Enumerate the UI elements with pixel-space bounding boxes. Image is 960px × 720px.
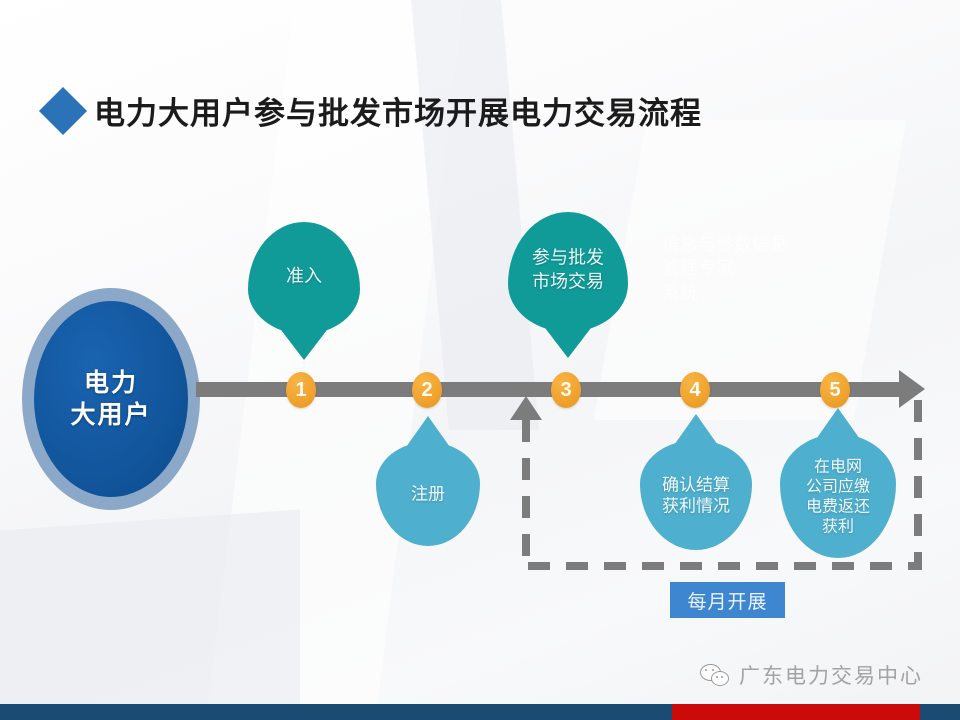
- monthly-cycle-tag[interactable]: 每月开展: [670, 582, 785, 618]
- timeline-badge-3[interactable]: 3: [551, 372, 581, 408]
- feedback-loop-arrow-head: [510, 396, 542, 420]
- actor-label-line2: 大用户: [70, 399, 151, 431]
- step-label-2: 注册: [378, 484, 478, 505]
- timeline-badge-4[interactable]: 4: [680, 372, 710, 408]
- actor-label-line1: 电力: [84, 367, 138, 399]
- step-label-5: 在电网 公司应缴 电费返还 获利: [782, 457, 894, 538]
- slide-title-row: 电力大用户参与批发市场开展电力交易流程: [46, 88, 702, 133]
- actor-ellipse: 电力 大用户: [22, 288, 200, 510]
- timeline-badge-2[interactable]: 2: [412, 372, 442, 408]
- footer-branding: 广东电力交易中心: [700, 660, 923, 690]
- page-title: 电力大用户参与批发市场开展电力交易流程: [94, 88, 702, 133]
- background-watermark-text: 信息与参数信息 管理专家 系统: [662, 232, 852, 305]
- footer-label: 广东电力交易中心: [739, 660, 923, 690]
- feedback-loop-bottom: [528, 562, 922, 570]
- feedback-loop-left: [522, 420, 530, 566]
- timeline-badge-1[interactable]: 1: [286, 372, 316, 408]
- diamond-bullet-icon: [39, 86, 87, 134]
- background-facet-4: [0, 510, 300, 720]
- timeline-badge-5[interactable]: 5: [820, 372, 850, 408]
- slide-canvas: 电力大用户参与批发市场开展电力交易流程 信息与参数信息 管理专家 系统 电力 大…: [0, 0, 960, 720]
- bottom-bar-accent: [672, 704, 920, 720]
- actor-ellipse-inner: 电力 大用户: [34, 301, 188, 497]
- wechat-icon: [700, 663, 730, 687]
- step-label-1: 准入: [248, 265, 360, 289]
- step-label-4: 确认结算 获利情况: [642, 474, 750, 517]
- feedback-loop-right: [914, 400, 922, 568]
- step-label-3: 参与批发 市场交易: [508, 246, 628, 294]
